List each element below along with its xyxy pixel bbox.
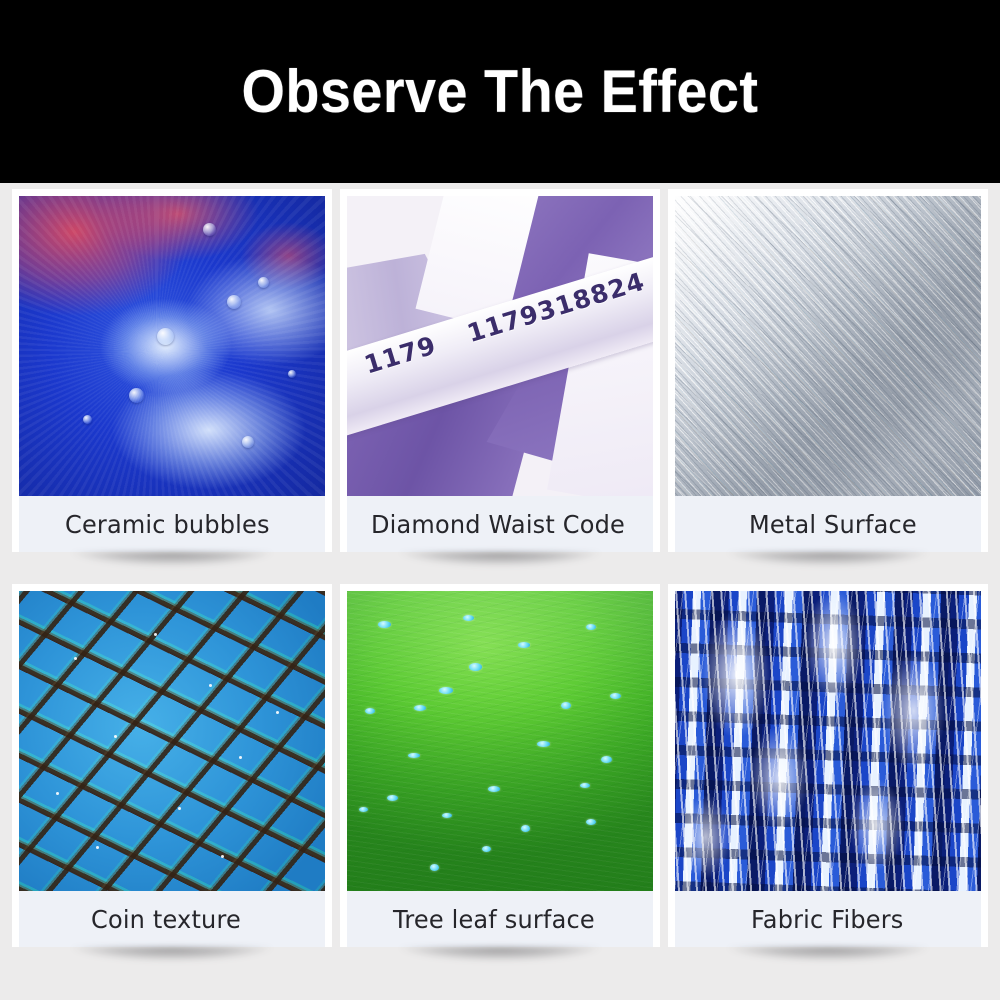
sample-card-ceramic-bubbles[interactable]: Ceramic bubbles [12,189,332,552]
card-caption: Tree leaf surface [347,891,653,947]
sample-card-metal-surface[interactable]: Metal Surface [668,189,988,552]
caption-text: Coin texture [91,905,241,934]
ceramic-bubbles-image [19,196,325,496]
card-shadow [346,552,654,578]
gallery-row: Ceramic bubbles 1179 1179318824 [0,189,1000,552]
coin-texture-image [19,591,325,891]
card-shadow [674,552,982,578]
card-caption: Ceramic bubbles [19,496,325,552]
card-shadow [674,947,982,973]
card-caption: Fabric Fibers [675,891,981,947]
sample-card-coin-texture[interactable]: Coin texture [12,584,332,947]
caption-text: Fabric Fibers [751,905,904,934]
card-caption: Coin texture [19,891,325,947]
page-title: Observe The Effect [242,62,759,122]
header-banner: Observe The Effect [0,0,1000,183]
sample-gallery: Ceramic bubbles 1179 1179318824 [0,183,1000,1000]
tree-leaf-surface-image [347,591,653,891]
card-caption: Metal Surface [675,496,981,552]
diamond-waist-code-image: 1179 1179318824 [347,196,653,496]
gallery-row: Coin texture [0,584,1000,947]
card-shadow [18,947,326,973]
card-shadow [18,552,326,578]
sample-card-diamond-waist-code[interactable]: 1179 1179318824 Diamond Waist Code [340,189,660,552]
card-shadow [346,947,654,973]
promo-page: Observe The Effect [0,0,1000,1000]
metal-surface-image [675,196,981,496]
caption-text: Ceramic bubbles [65,510,270,539]
fabric-fibers-image [675,591,981,891]
card-caption: Diamond Waist Code [347,496,653,552]
caption-text: Tree leaf surface [393,905,595,934]
sample-card-fabric-fibers[interactable]: Fabric Fibers [668,584,988,947]
sample-card-tree-leaf-surface[interactable]: Tree leaf surface [340,584,660,947]
caption-text: Metal Surface [749,510,917,539]
caption-text: Diamond Waist Code [371,510,625,539]
